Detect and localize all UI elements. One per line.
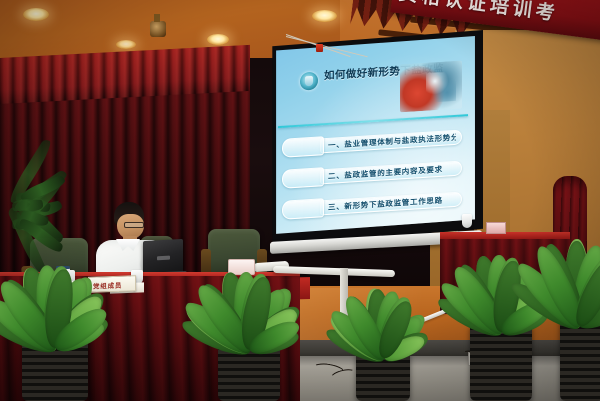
potted-plant-5: [556, 234, 600, 401]
slide-divider: [278, 114, 468, 127]
conference-hall-photo: 资格认证培训考 如何做好新形势下盐政监管 一、盐业管理体制与盐政执法形势分析: [0, 0, 600, 401]
presentation-slide: 如何做好新形势下盐政监管 一、盐业管理体制与盐政执法形势分析 二、盐政监管的主要…: [272, 34, 477, 240]
slide-decorative-image: [400, 60, 462, 112]
projection-screen: 如何做好新形势下盐政监管 一、盐业管理体制与盐政执法形势分析 二、盐政监管的主要…: [268, 30, 483, 260]
downlight-4: [207, 34, 229, 45]
salt-administration-emblem-icon: [300, 72, 318, 91]
wire-clip: [316, 44, 323, 52]
laptop-logo: [157, 256, 170, 261]
cup-4: [462, 214, 472, 228]
potted-plant-1: [0, 262, 150, 401]
bullet-cap: [282, 136, 324, 158]
bullet-cap: [282, 198, 324, 220]
eyeglasses-icon: [124, 222, 144, 228]
potted-plant-2: [188, 272, 338, 401]
downlight-3: [312, 10, 337, 22]
palm-plant: [0, 150, 90, 280]
ceiling-projector-mount: [150, 21, 166, 37]
potted-plant-3: [330, 288, 450, 401]
planter-pot: [470, 323, 532, 401]
screen-surface: 如何做好新形势下盐政监管 一、盐业管理体制与盐政执法形势分析 二、盐政监管的主要…: [272, 34, 477, 240]
bullet-cap: [282, 167, 324, 189]
downlight-1: [23, 8, 49, 21]
slide-bullet-1: 一、盐业管理体制与盐政执法形势分析: [282, 128, 460, 159]
slide-bullet-3: 三、新形势下盐政监管工作思路: [282, 190, 460, 221]
downlight-2: [116, 40, 136, 49]
slide-bullet-2: 二、盐政监管的主要内容及要求: [282, 159, 460, 190]
side-table-card: [486, 222, 506, 234]
